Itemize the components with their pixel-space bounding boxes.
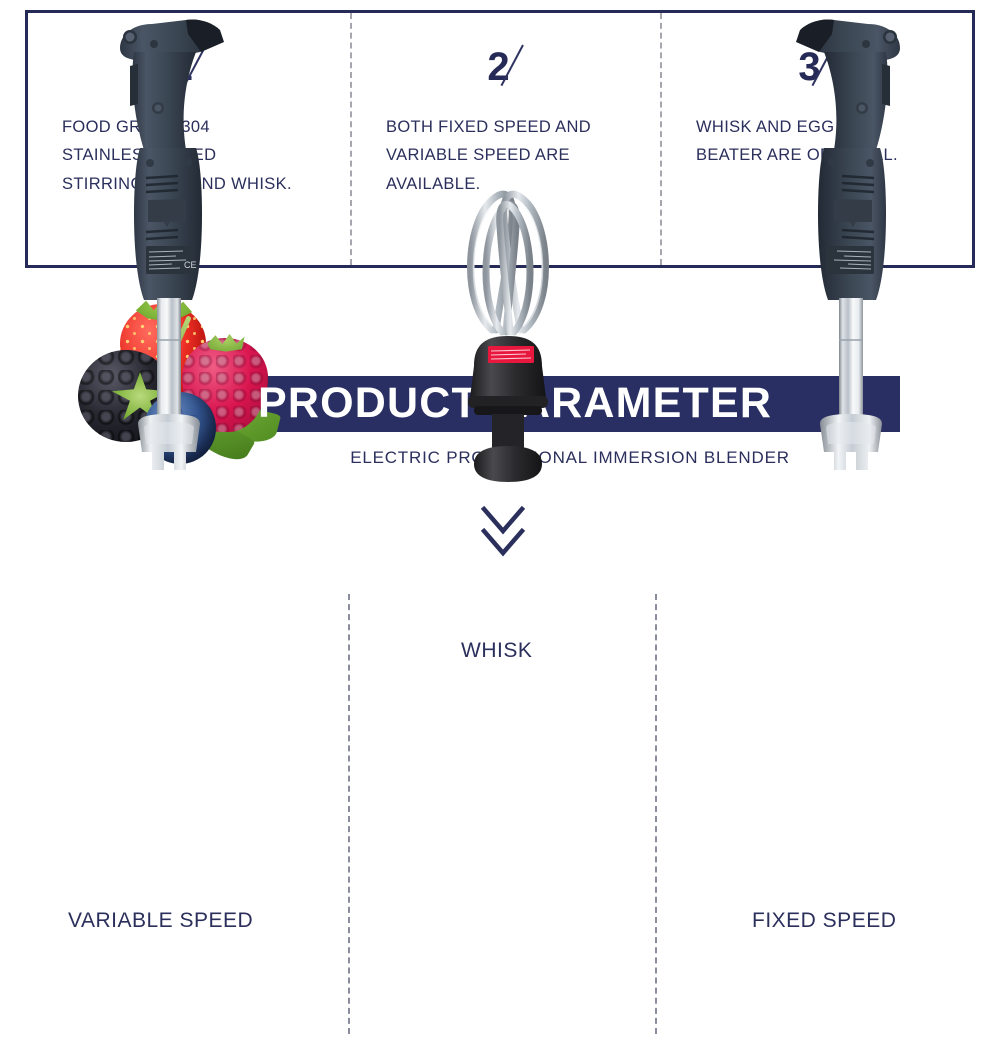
- double-chevron-down-icon: [481, 505, 525, 557]
- showcase-divider-right: [655, 594, 657, 1034]
- whisk-foot: [474, 446, 542, 482]
- caption-whisk: WHISK: [461, 639, 532, 663]
- product-image-variable-speed: CE: [100, 0, 250, 492]
- slash-icon: [511, 47, 537, 87]
- feature-number-2: 2: [487, 47, 508, 87]
- product-showcase: [0, 556, 1000, 1043]
- blender-speed-switch: [130, 64, 138, 106]
- showcase-divider-left: [348, 594, 350, 1034]
- caption-fixed-speed: FIXED SPEED: [752, 909, 896, 933]
- blender-shaft: [157, 298, 181, 424]
- blender-handle: [132, 52, 196, 150]
- blender-handle: [824, 52, 888, 150]
- whisk-base-cone: [470, 336, 546, 398]
- caption-variable-speed: VARIABLE SPEED: [68, 909, 253, 933]
- blender-power-switch: [882, 64, 890, 106]
- product-image-fixed-speed: [770, 0, 920, 492]
- blender-shaft: [839, 298, 863, 424]
- ce-mark-icon: CE: [184, 260, 197, 270]
- product-image-whisk: [452, 134, 564, 492]
- feature-number-group-2: 2: [386, 47, 638, 95]
